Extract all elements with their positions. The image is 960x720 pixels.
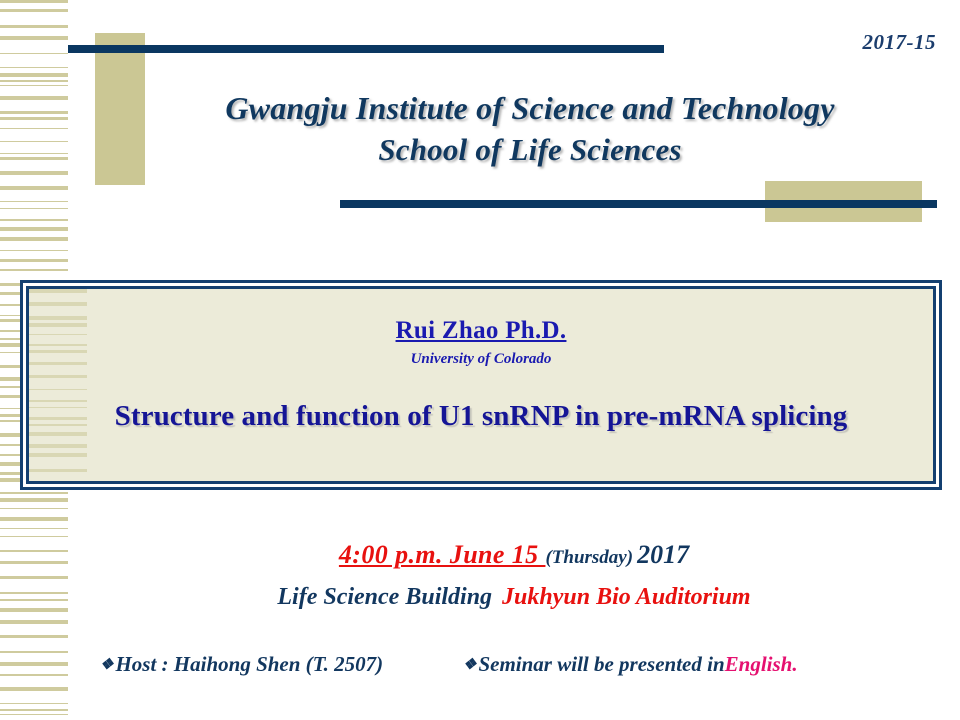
seminar-panel-content: Rui Zhao Ph.D. University of Colorado St… xyxy=(29,289,933,433)
venue-building: Life Science Building xyxy=(277,584,492,610)
seminar-info-panel-inner: Rui Zhao Ph.D. University of Colorado St… xyxy=(26,286,936,484)
diamond-bullet-icon: ❖ xyxy=(100,657,113,673)
seminar-info-panel: Rui Zhao Ph.D. University of Colorado St… xyxy=(20,280,942,490)
event-details: 4:00 p.m. June 15 (Thursday) 2017 Life S… xyxy=(68,540,960,611)
host-note-text: Host : Haihong Shen (T. 2507) xyxy=(115,652,383,676)
seminar-poster-slide: 2017-15 Gwangju Institute of Science and… xyxy=(0,0,960,720)
khaki-block-left xyxy=(95,33,145,185)
talk-title: Structure and function of U1 snRNP in pr… xyxy=(29,400,933,433)
institute-title-line-2: School of Life Sciences xyxy=(150,130,910,170)
diamond-bullet-icon: ❖ xyxy=(463,657,476,673)
institute-title: Gwangju Institute of Science and Technol… xyxy=(150,88,910,170)
event-year: 2017 xyxy=(637,540,689,569)
language-note-highlight: English. xyxy=(725,652,798,676)
event-weekday: (Thursday) xyxy=(545,547,633,568)
event-time-and-date: 4:00 p.m. June 15 xyxy=(339,540,546,569)
institute-title-line-1: Gwangju Institute of Science and Technol… xyxy=(150,88,910,130)
venue-hall: Jukhyun Bio Auditorium xyxy=(502,584,751,610)
language-note-text: Seminar will be presented in xyxy=(478,652,724,676)
footer-note-language: ❖Seminar will be presented inEnglish. xyxy=(463,652,798,677)
speaker-name: Rui Zhao Ph.D. xyxy=(29,317,933,345)
event-venue-line: Life Science BuildingJukhyun Bio Auditor… xyxy=(68,584,960,611)
navy-bar-top xyxy=(68,45,664,53)
speaker-affiliation: University of Colorado xyxy=(29,351,933,368)
navy-bar-bottom xyxy=(340,200,937,208)
reference-number: 2017-15 xyxy=(863,30,937,55)
footer-note-host: ❖Host : Haihong Shen (T. 2507) xyxy=(100,652,383,677)
event-datetime-line: 4:00 p.m. June 15 (Thursday) 2017 xyxy=(68,540,960,570)
